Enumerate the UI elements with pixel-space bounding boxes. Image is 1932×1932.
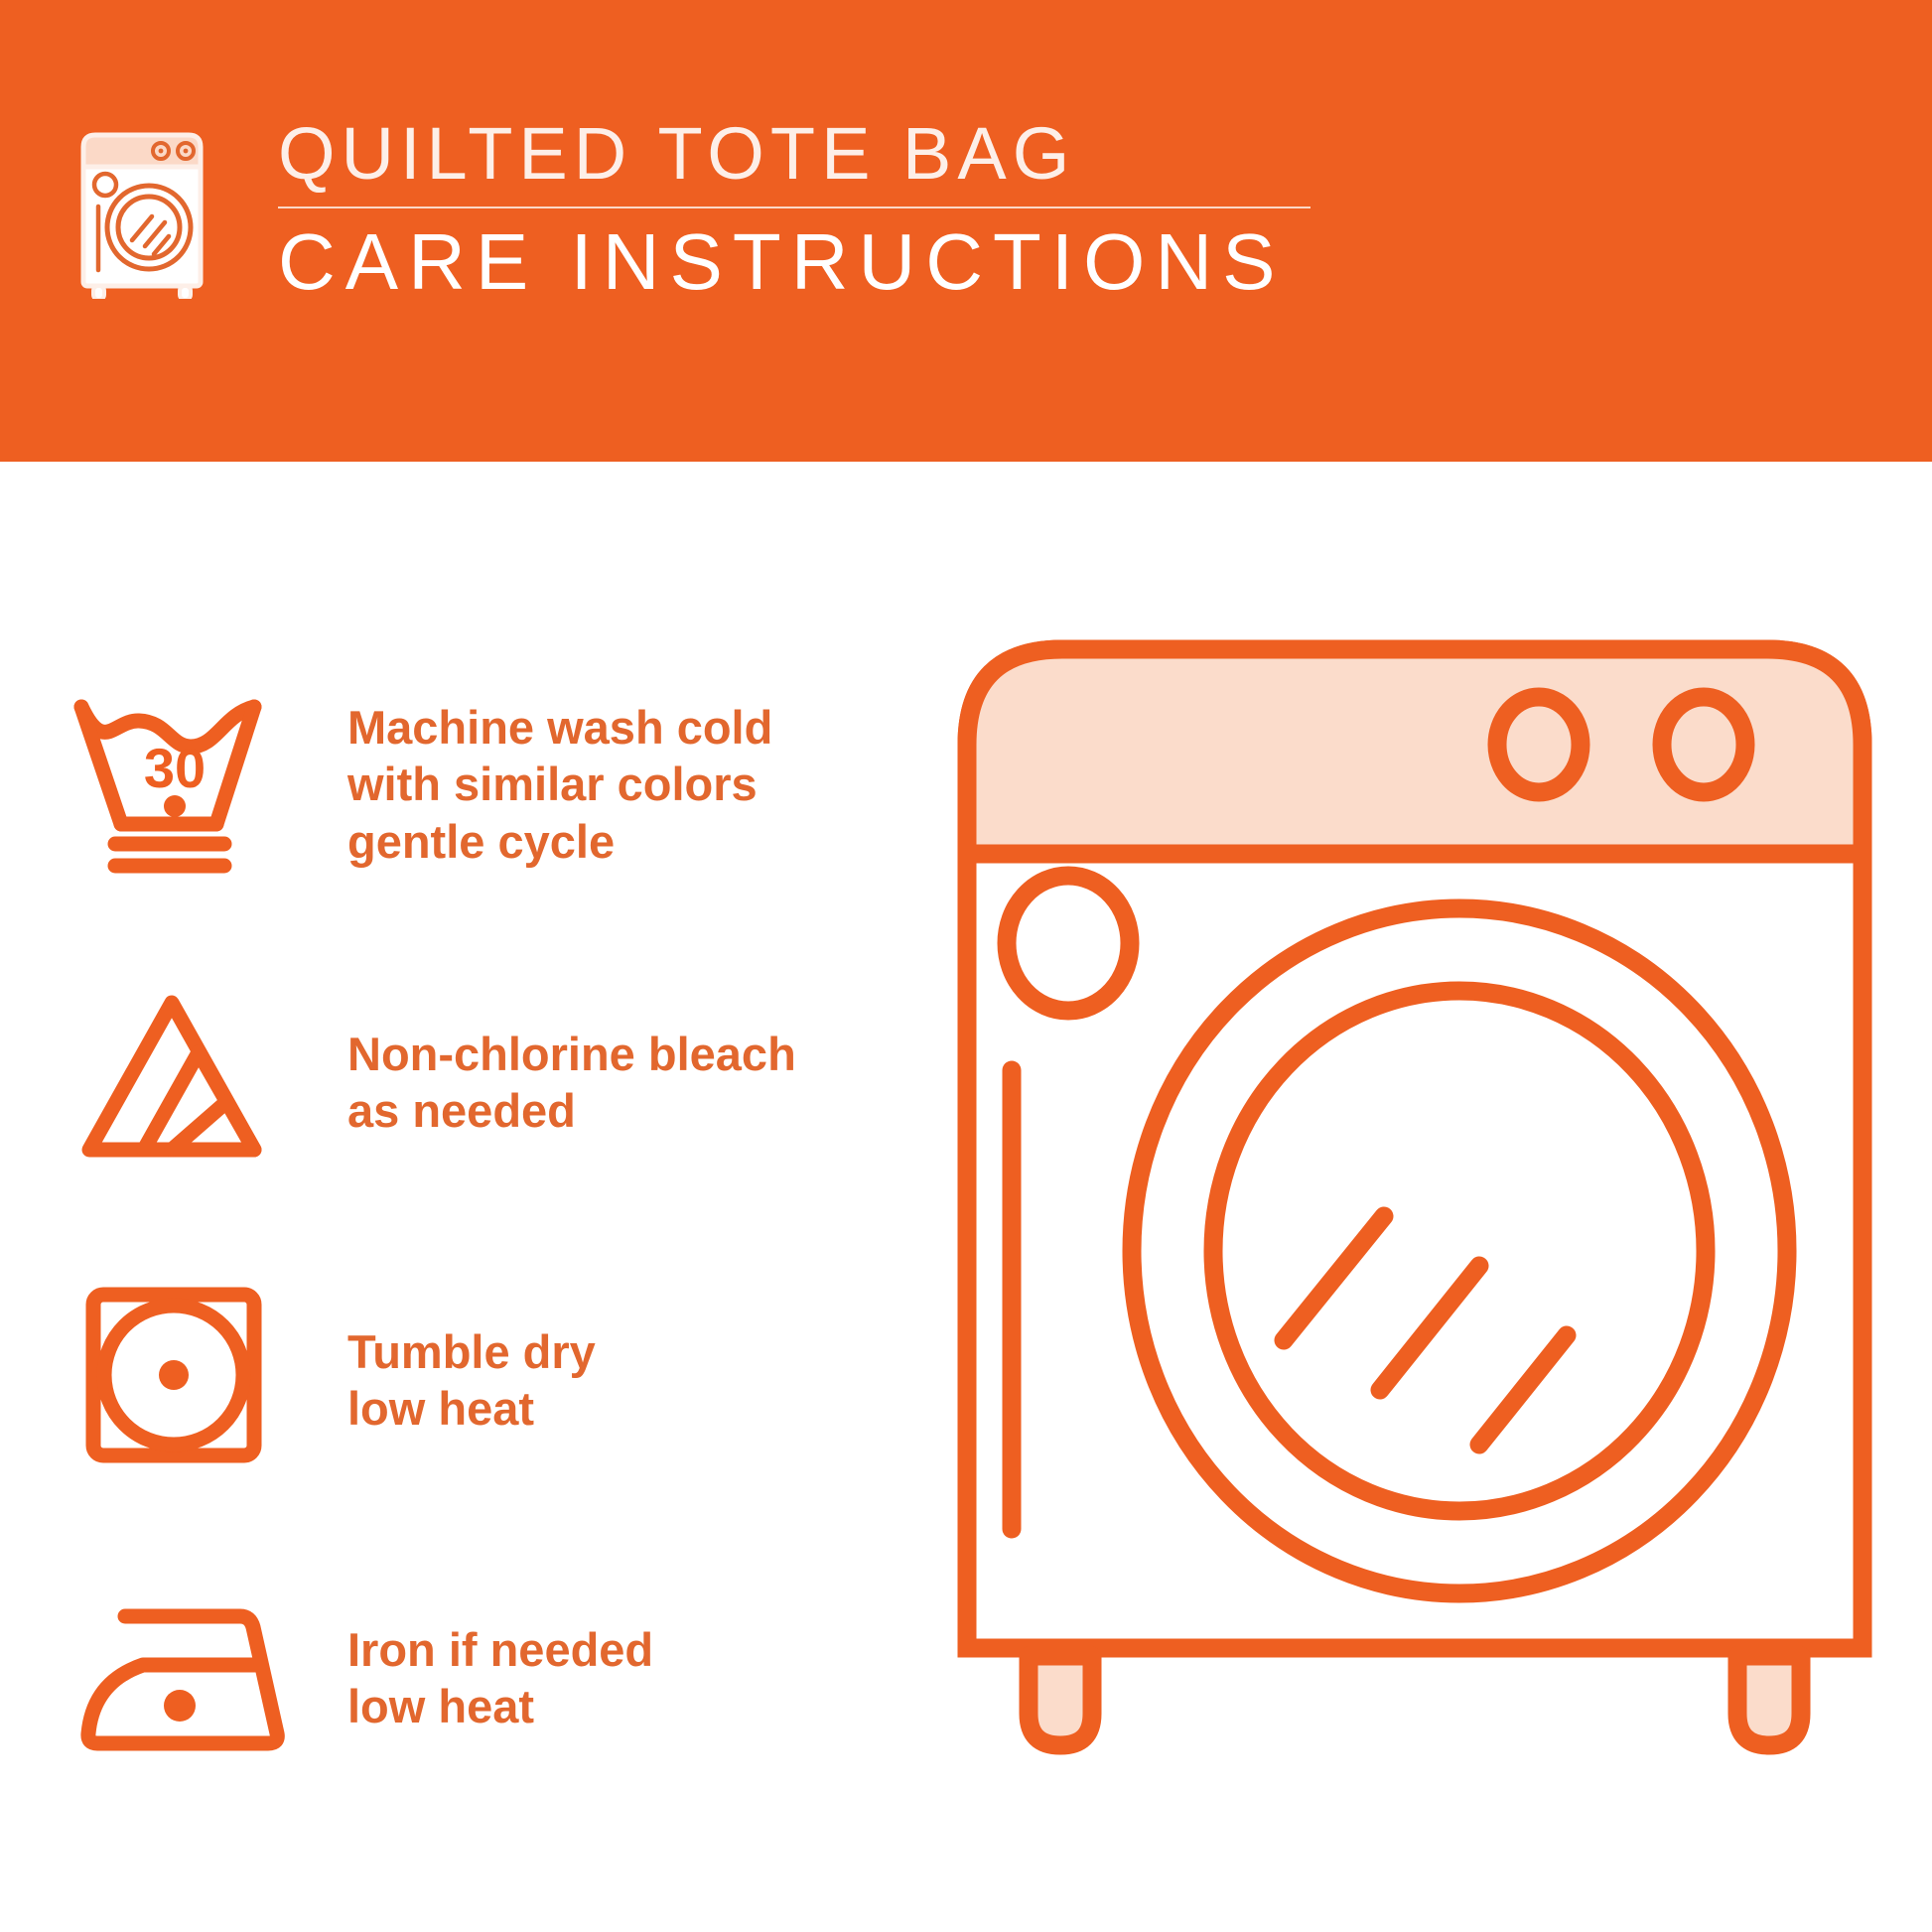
knob-left — [1497, 697, 1581, 792]
header-band: QUILTED TOTE BAG CARE INSTRUCTIONS — [0, 0, 1932, 462]
wash-temperature-value: 30 — [144, 737, 206, 799]
instruction-list: 30 Machine wash cold with similar colors… — [60, 655, 913, 1847]
instruction-item-tumble-dry: Tumble dry low heat — [60, 1251, 913, 1509]
instruction-label-bleach: Non-chlorine bleach as needed — [347, 1026, 913, 1140]
title-divider — [278, 207, 1311, 208]
instruction-label-tumble-dry: Tumble dry low heat — [347, 1323, 913, 1438]
washing-machine-illustration — [953, 635, 1876, 1886]
care-instructions-infographic: QUILTED TOTE BAG CARE INSTRUCTIONS — [0, 0, 1932, 1932]
instruction-item-wash: 30 Machine wash cold with similar colors… — [60, 655, 913, 913]
non-chlorine-bleach-triangle-icon — [60, 976, 288, 1189]
header-text-column: QUILTED TOTE BAG CARE INSTRUCTIONS — [278, 117, 1311, 302]
washing-machine-icon — [69, 125, 218, 299]
instruction-item-bleach: Non-chlorine bleach as needed — [60, 953, 913, 1211]
leg-right — [1737, 1656, 1801, 1745]
instruction-label-wash: Machine wash cold with similar colors ge… — [347, 699, 913, 870]
iron-low-heat-icon — [60, 1572, 288, 1785]
knob-right — [1662, 697, 1745, 792]
instruction-label-iron: Iron if needed low heat — [347, 1621, 913, 1735]
tumble-dry-low-heat-icon — [60, 1274, 288, 1487]
page-subtitle: CARE INSTRUCTIONS — [278, 222, 1311, 302]
header-content: QUILTED TOTE BAG CARE INSTRUCTIONS — [69, 117, 1311, 336]
wash-tub-30-icon: 30 — [60, 678, 288, 892]
leg-left — [1029, 1656, 1092, 1745]
instruction-item-iron: Iron if needed low heat — [60, 1549, 913, 1807]
page-title: QUILTED TOTE BAG — [278, 117, 1311, 191]
